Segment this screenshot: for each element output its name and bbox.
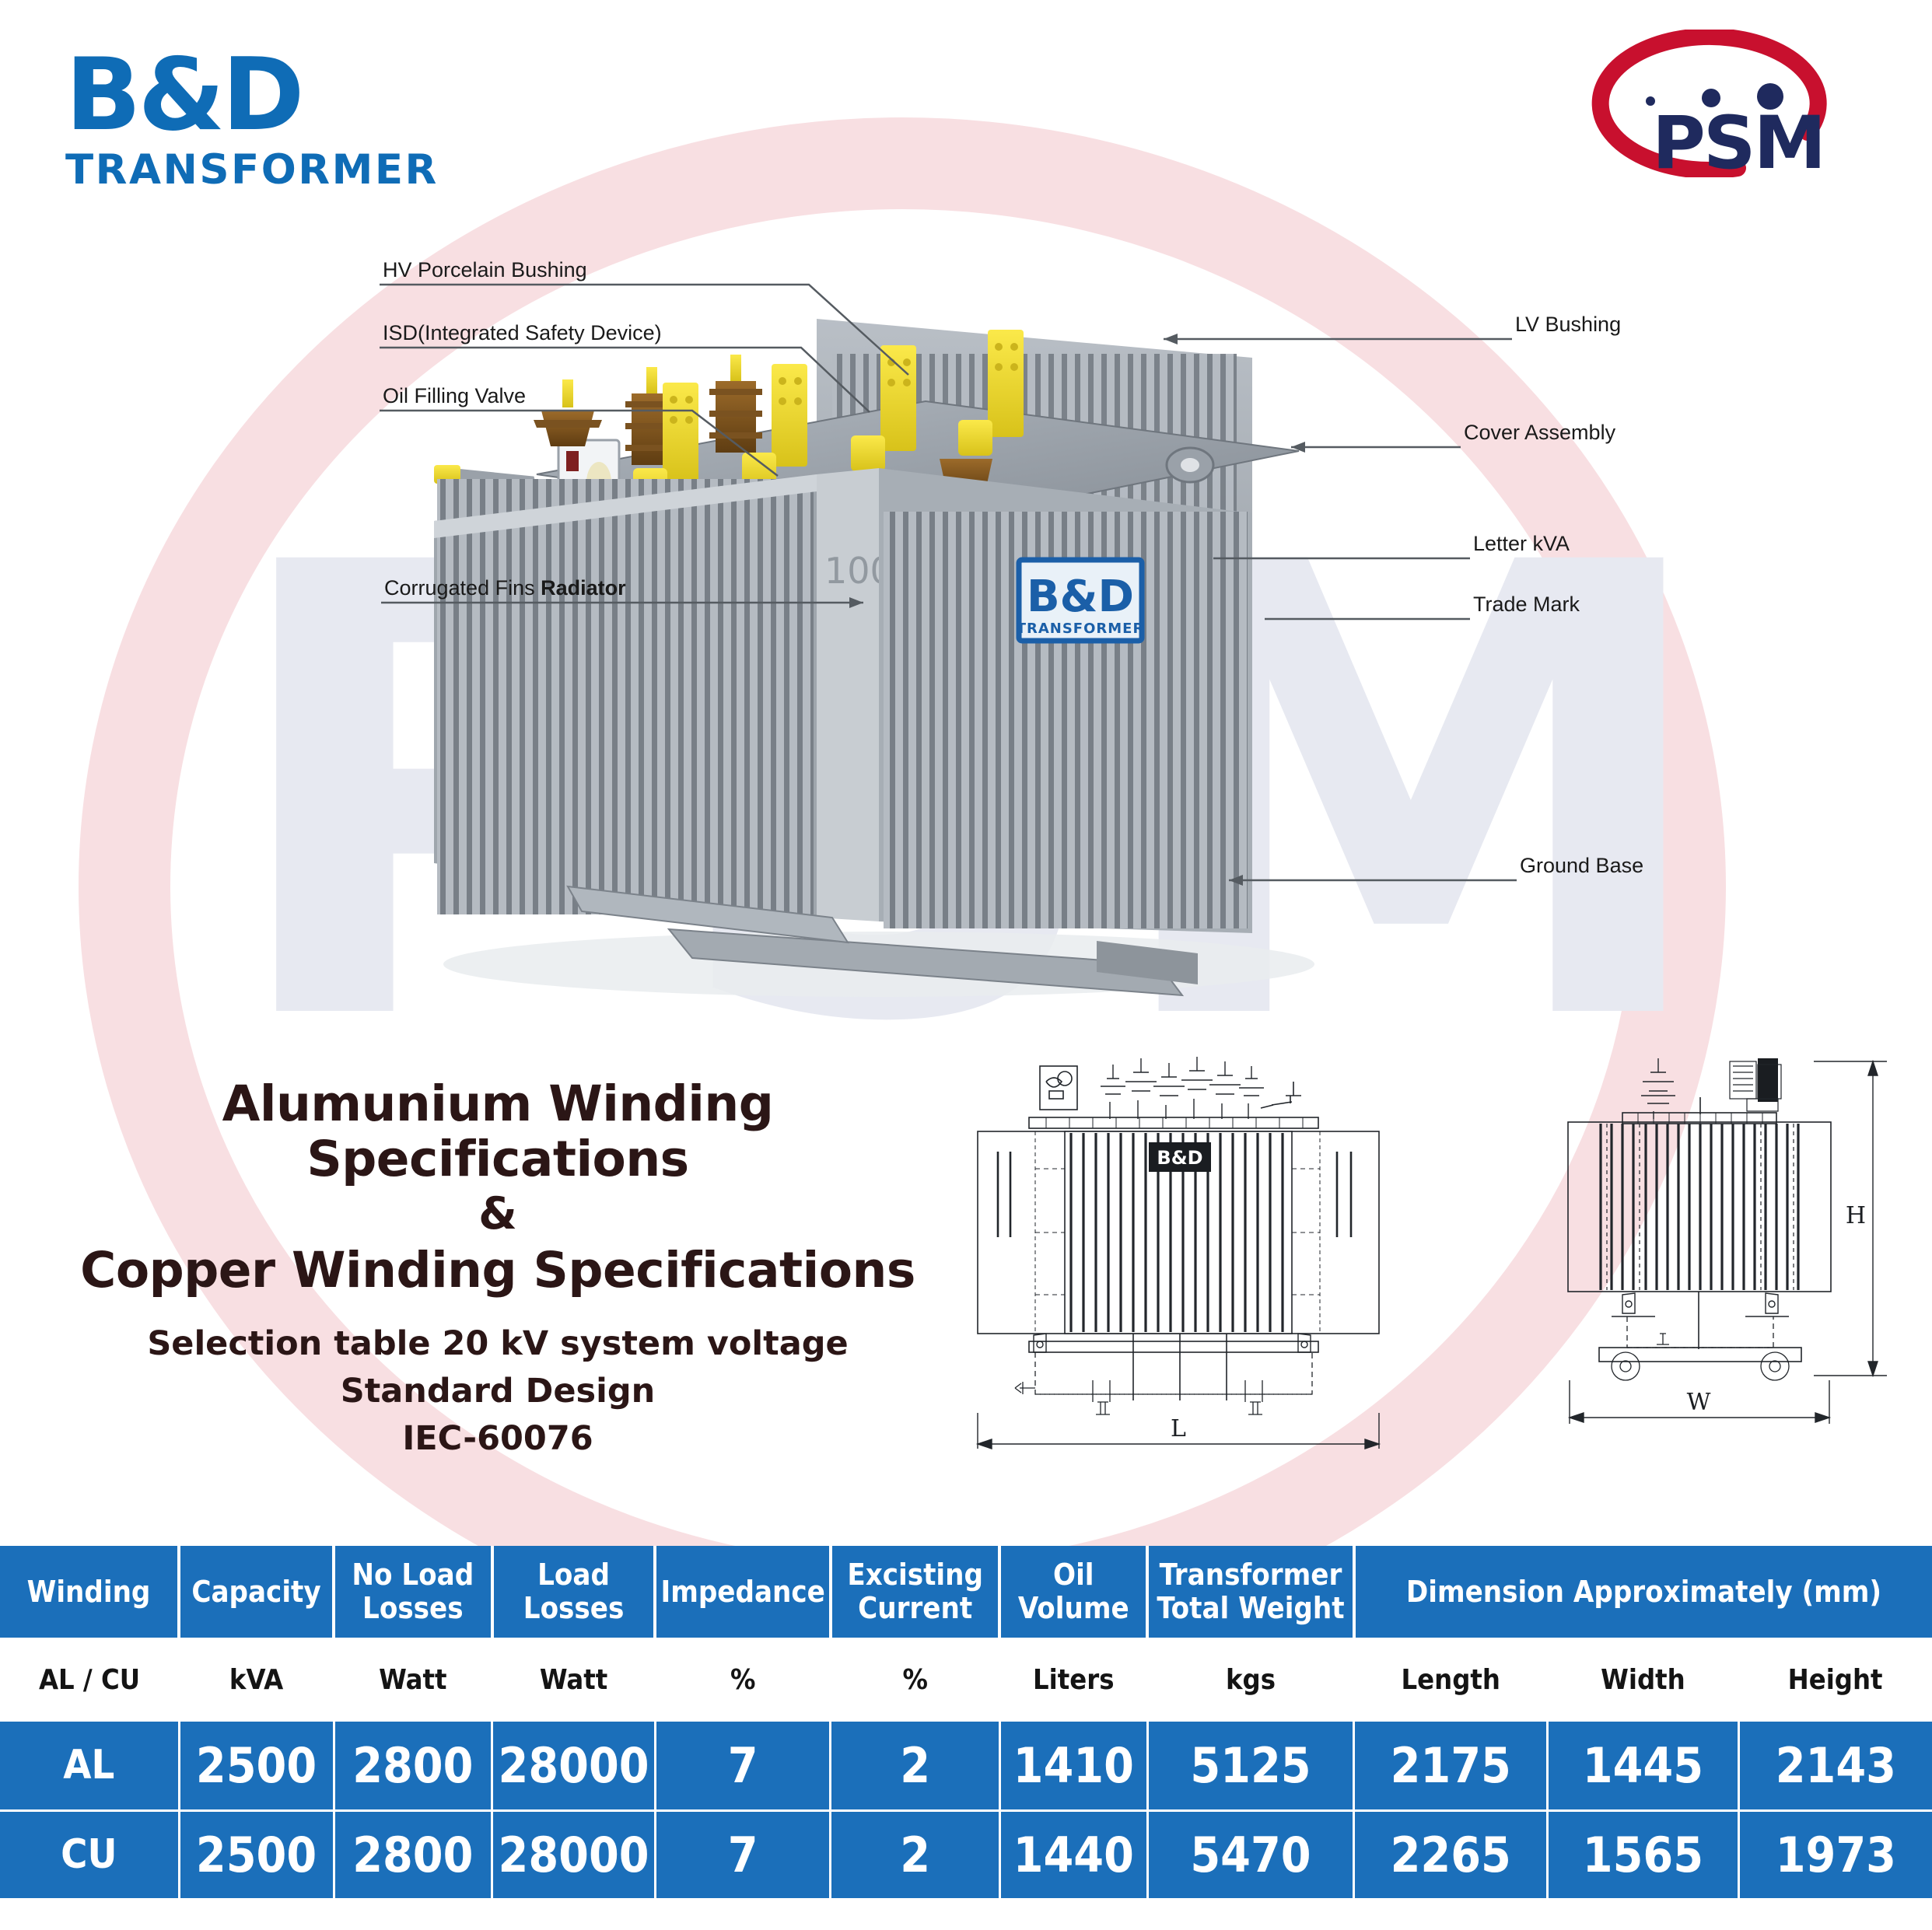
- callout-label-hv-porcelain-bushing: HV Porcelain Bushing: [380, 258, 590, 285]
- cell-cu-impedance: 7: [655, 1810, 830, 1899]
- callout-letter-kva: Letter kVA: [1470, 532, 1573, 559]
- table-header-row: Winding Capacity No Load Losses Load Los…: [0, 1546, 1932, 1638]
- unit-excisting-current: %: [831, 1638, 1000, 1722]
- specification-table: Winding Capacity No Load Losses Load Los…: [0, 1546, 1932, 1900]
- cell-cu-winding: CU: [0, 1810, 179, 1899]
- cad-side-width-label: W: [1687, 1389, 1711, 1416]
- cell-cu-capacity: 2500: [179, 1810, 334, 1899]
- cell-cu-oil-volume: 1440: [999, 1810, 1147, 1899]
- cell-cu-length: 2265: [1354, 1810, 1548, 1899]
- callout-hv-porcelain-bushing: HV Porcelain Bushing: [380, 258, 590, 285]
- cell-al-load-losses: 28000: [492, 1722, 656, 1810]
- spec-heading-ampersand: &: [47, 1187, 949, 1242]
- cell-al-no-load-losses: 2800: [334, 1722, 492, 1810]
- col-header-dimension-group: Dimension Approximately (mm): [1354, 1546, 1932, 1638]
- unit-length: Length: [1354, 1638, 1548, 1722]
- callout-text-corrugated-fins: Corrugated Fins: [384, 576, 541, 600]
- col-header-winding: Winding: [0, 1546, 179, 1638]
- col-header-capacity: Capacity: [179, 1546, 334, 1638]
- bd-logo: B&D TRANSFORMER: [65, 48, 439, 194]
- spec-heading-line1: Alumunium Winding Specifications: [47, 1077, 949, 1187]
- spec-subheading-standard: IEC-60076: [47, 1415, 949, 1463]
- psm-logo-text: PSM: [1652, 101, 1824, 177]
- cell-al-capacity: 2500: [179, 1722, 334, 1810]
- cell-al-width: 1445: [1548, 1722, 1739, 1810]
- bd-logo-tagline: TRANSFORMER: [65, 146, 439, 194]
- cell-cu-load-losses: 28000: [492, 1810, 656, 1899]
- unit-impedance: %: [655, 1638, 830, 1722]
- cad-front-view: B&D: [968, 1046, 1466, 1481]
- cell-al-winding: AL: [0, 1722, 179, 1810]
- col-header-excisting-current: Excisting Current: [831, 1546, 1000, 1638]
- callout-text-radiator: Radiator: [541, 576, 626, 600]
- callout-ground-base: Ground Base: [1517, 854, 1647, 881]
- trade-mark-part: B&D TRANSFORMER: [1017, 560, 1145, 641]
- svg-text:B&D: B&D: [1027, 572, 1134, 622]
- front-fin-bank-right: [879, 468, 1252, 933]
- callout-trade-mark: Trade Mark: [1470, 593, 1583, 620]
- col-header-total-weight: Transformer Total Weight: [1147, 1546, 1354, 1638]
- col-header-no-load-losses: No Load Losses: [334, 1546, 492, 1638]
- spec-subheading-voltage: Selection table 20 kV system voltage: [47, 1320, 949, 1368]
- cell-al-impedance: 7: [655, 1722, 830, 1810]
- unit-total-weight: kgs: [1147, 1638, 1354, 1722]
- cell-al-height: 2143: [1738, 1722, 1932, 1810]
- cell-cu-width: 1565: [1548, 1810, 1739, 1899]
- cell-al-excisting-current: 2: [831, 1722, 1000, 1810]
- callout-lv-bushing: LV Bushing: [1512, 313, 1624, 340]
- cell-al-oil-volume: 1410: [999, 1722, 1147, 1810]
- cell-cu-height: 1973: [1738, 1810, 1932, 1899]
- callout-label-oil-filling-valve: Oil Filling Valve: [380, 384, 529, 411]
- callout-label-corrugated-fins: Corrugated Fins Radiator: [381, 576, 629, 603]
- svg-text:TRANSFORMER: TRANSFORMER: [1017, 621, 1145, 637]
- unit-capacity: kVA: [179, 1638, 334, 1722]
- bd-logo-wordmark: B&D: [65, 48, 439, 143]
- callout-isd: ISD(Integrated Safety Device): [380, 321, 665, 348]
- col-header-oil-volume: Oil Volume: [999, 1546, 1147, 1638]
- callout-label-trade-mark: Trade Mark: [1470, 593, 1583, 620]
- cell-al-total-weight: 5125: [1147, 1722, 1354, 1810]
- callout-oil-filling-valve: Oil Filling Valve: [380, 384, 529, 411]
- callout-corrugated-fins-radiator: Corrugated Fins Radiator: [381, 576, 629, 603]
- callout-label-cover-assembly: Cover Assembly: [1461, 421, 1619, 448]
- cell-cu-excisting-current: 2: [831, 1810, 1000, 1899]
- spec-subheading-design: Standard Design: [47, 1368, 949, 1415]
- unit-no-load-losses: Watt: [334, 1638, 492, 1722]
- table-row: AL 2500 2800 28000 7 2 1410 5125 2175 14…: [0, 1722, 1932, 1810]
- unit-oil-volume: Liters: [999, 1638, 1147, 1722]
- unit-height: Height: [1738, 1638, 1932, 1722]
- corrugated-fins-radiator-part: [434, 474, 817, 918]
- unit-load-losses: Watt: [492, 1638, 656, 1722]
- callout-cover-assembly: Cover Assembly: [1461, 421, 1619, 448]
- spec-heading-block: Alumunium Winding Specifications & Coppe…: [47, 1077, 949, 1463]
- svg-text:B&D: B&D: [1157, 1147, 1202, 1169]
- callout-label-lv-bushing: LV Bushing: [1512, 313, 1624, 340]
- spec-heading-line2: Copper Winding Specifications: [47, 1242, 949, 1299]
- cell-al-length: 2175: [1354, 1722, 1548, 1810]
- product-spec-sheet: PSM B&D TRANSFORMER PSM: [0, 0, 1932, 1930]
- cell-cu-no-load-losses: 2800: [334, 1810, 492, 1899]
- table-units-row: AL / CU kVA Watt Watt % % Liters kgs Len…: [0, 1638, 1932, 1722]
- cad-front-dim-label: L: [1171, 1415, 1186, 1442]
- unit-width: Width: [1548, 1638, 1739, 1722]
- unit-winding: AL / CU: [0, 1638, 179, 1722]
- callout-label-letter-kva: Letter kVA: [1470, 532, 1573, 559]
- col-header-load-losses: Load Losses: [492, 1546, 656, 1638]
- cad-side-height-label: H: [1846, 1202, 1866, 1229]
- callout-label-isd: ISD(Integrated Safety Device): [380, 321, 665, 348]
- cell-cu-total-weight: 5470: [1147, 1810, 1354, 1899]
- callout-label-ground-base: Ground Base: [1517, 854, 1647, 881]
- col-header-impedance: Impedance: [655, 1546, 830, 1638]
- psm-logo: PSM: [1574, 30, 1831, 177]
- table-row: CU 2500 2800 28000 7 2 1440 5470 2265 15…: [0, 1810, 1932, 1899]
- cad-side-view: H W: [1524, 1046, 1929, 1481]
